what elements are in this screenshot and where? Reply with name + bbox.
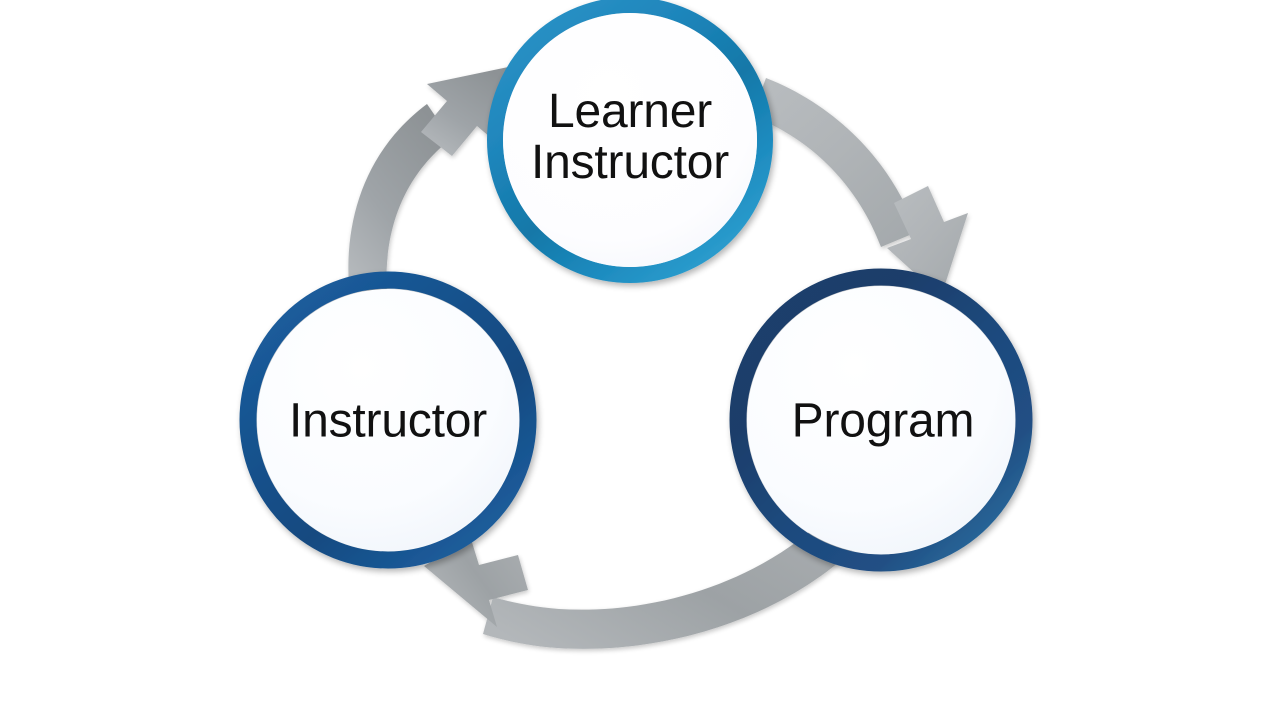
arrow-learner-to-program (752, 78, 968, 297)
node-learner-instructor[interactable] (495, 5, 765, 275)
node-instructor[interactable] (248, 280, 528, 560)
cycle-diagram-graphic (0, 0, 1280, 720)
instructor-face (257, 289, 519, 551)
node-program[interactable] (738, 277, 1024, 563)
program-face (747, 286, 1015, 554)
arrow-instructor-to-learner (348, 66, 513, 294)
diagram-canvas: Learner Instructor Instructor Program (0, 0, 1280, 720)
learner-instructor-face (503, 13, 757, 267)
